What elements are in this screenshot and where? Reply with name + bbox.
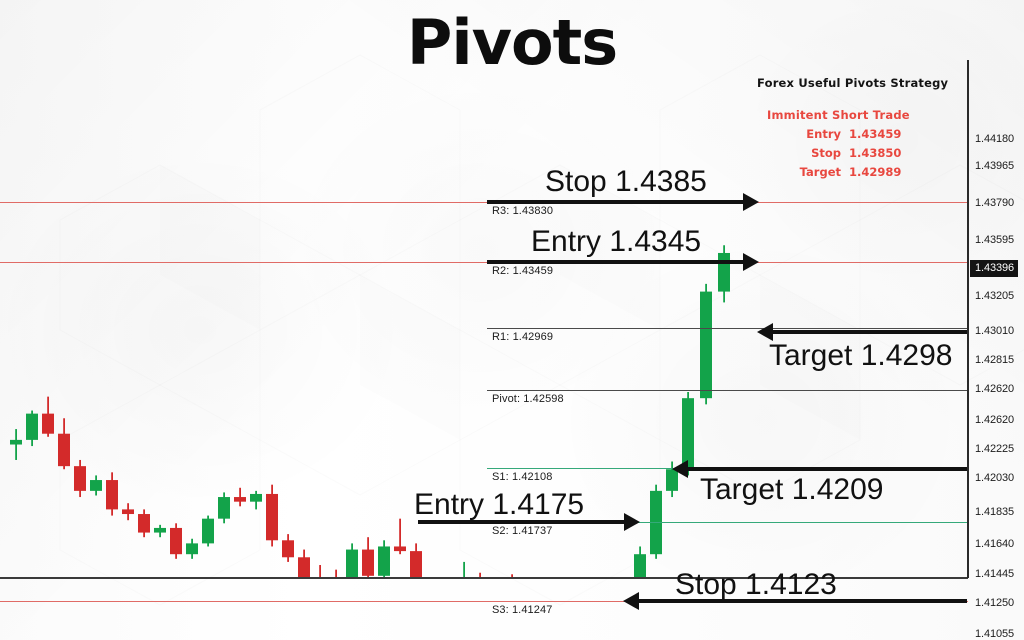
pivot-line-r3 xyxy=(0,202,968,203)
pivot-label-pivot: Pivot: 1.42598 xyxy=(492,393,564,405)
candlestick xyxy=(700,284,712,404)
strategy-row-entry: Entry1.43459 xyxy=(757,127,967,141)
arrow-head xyxy=(743,193,759,211)
strategy-row-label: Target xyxy=(799,165,841,179)
candlestick xyxy=(42,397,54,437)
candlestick xyxy=(10,429,22,460)
strategy-rows: Entry1.43459Stop1.43850Target1.42989 xyxy=(757,127,967,179)
strategy-row-value: 1.43459 xyxy=(849,127,901,141)
annotation-label: Stop 1.4123 xyxy=(675,568,837,602)
candlestick xyxy=(218,492,230,523)
annotation-label: Entry 1.4345 xyxy=(531,225,701,259)
strategy-row-label: Stop xyxy=(799,146,841,160)
pivot-label-s2: S2: 1.41737 xyxy=(492,525,552,537)
arrow-head xyxy=(743,253,759,271)
price-tick: 1.42620 xyxy=(975,383,1014,395)
price-tick: 1.42030 xyxy=(975,472,1014,484)
candlestick xyxy=(74,460,86,497)
price-tick: 1.43595 xyxy=(975,234,1014,246)
candlestick xyxy=(106,472,118,515)
price-tick: 1.41250 xyxy=(975,597,1014,609)
price-tick: 1.44180 xyxy=(975,133,1014,145)
candlestick xyxy=(410,543,422,578)
price-tick: 1.42225 xyxy=(975,443,1014,455)
candlestick xyxy=(266,485,278,547)
strategy-row-value: 1.43850 xyxy=(849,146,901,160)
strategy-row-label: Entry xyxy=(799,127,841,141)
arrow-shaft xyxy=(487,200,745,204)
price-tick: 1.43010 xyxy=(975,325,1014,337)
price-axis-line xyxy=(967,60,969,578)
annotation-label: Target 1.4298 xyxy=(769,339,952,373)
arrow-head xyxy=(672,460,688,478)
arrow-shaft xyxy=(487,260,745,264)
price-tick: 1.41640 xyxy=(975,538,1014,550)
candlestick xyxy=(154,525,166,537)
candlestick xyxy=(458,562,470,578)
price-tick: 1.43965 xyxy=(975,160,1014,172)
strategy-row-stop: Stop1.43850 xyxy=(757,146,967,160)
annotation-label: Target 1.4209 xyxy=(700,473,883,507)
pivot-line-pivot xyxy=(487,390,968,391)
price-tick: 1.41835 xyxy=(975,506,1014,518)
pivot-line-r2 xyxy=(0,262,968,263)
candlestick xyxy=(346,543,358,578)
strategy-subtitle: Immitent Short Trade xyxy=(757,108,967,122)
candlestick xyxy=(250,491,262,510)
price-tick: 1.43205 xyxy=(975,290,1014,302)
price-tick: 1.43790 xyxy=(975,197,1014,209)
candlestick xyxy=(58,418,70,469)
strategy-row-target: Target1.42989 xyxy=(757,165,967,179)
candlestick xyxy=(186,539,198,559)
candlestick xyxy=(170,523,182,559)
chart-canvas: Pivots R3: 1.43830R2: 1.43459R1: 1.42969… xyxy=(0,0,1024,640)
price-tick: 1.42620 xyxy=(975,414,1014,426)
price-tick: 1.41445 xyxy=(975,568,1014,580)
price-tick-current: 1.43396 xyxy=(970,260,1018,277)
candlestick xyxy=(202,516,214,547)
candlestick xyxy=(234,488,246,507)
candlestick xyxy=(90,475,102,495)
arrow-head xyxy=(624,513,640,531)
price-axis-ticks: 1.441801.439651.437901.435951.433961.432… xyxy=(970,60,1024,640)
pivot-label-s1: S1: 1.42108 xyxy=(492,471,552,483)
pivot-line-r1 xyxy=(487,328,968,329)
strategy-row-value: 1.42989 xyxy=(849,165,901,179)
strategy-title: Forex Useful Pivots Strategy xyxy=(757,76,967,90)
price-tick: 1.41055 xyxy=(975,628,1014,640)
pivot-label-r3: R3: 1.43830 xyxy=(492,205,553,217)
pivot-label-r2: R2: 1.43459 xyxy=(492,265,553,277)
candlestick xyxy=(378,540,390,578)
price-tick: 1.42815 xyxy=(975,354,1014,366)
candlestick xyxy=(298,550,310,578)
arrow-shaft xyxy=(686,467,967,471)
candlestick xyxy=(122,503,134,520)
candlestick xyxy=(394,519,406,555)
candlestick xyxy=(718,245,730,302)
pivot-label-r1: R1: 1.42969 xyxy=(492,331,553,343)
candlestick xyxy=(362,537,374,578)
annotation-label: Stop 1.4385 xyxy=(545,165,707,199)
arrow-head xyxy=(623,592,639,610)
candlestick xyxy=(634,546,646,578)
annotation-label: Entry 1.4175 xyxy=(414,488,584,522)
strategy-info-panel: Forex Useful Pivots Strategy Immitent Sh… xyxy=(757,76,967,179)
pivot-label-s3: S3: 1.41247 xyxy=(492,604,552,616)
candlestick xyxy=(26,411,38,447)
arrow-shaft xyxy=(771,330,967,334)
candlestick xyxy=(138,509,150,537)
candlestick xyxy=(282,534,294,562)
